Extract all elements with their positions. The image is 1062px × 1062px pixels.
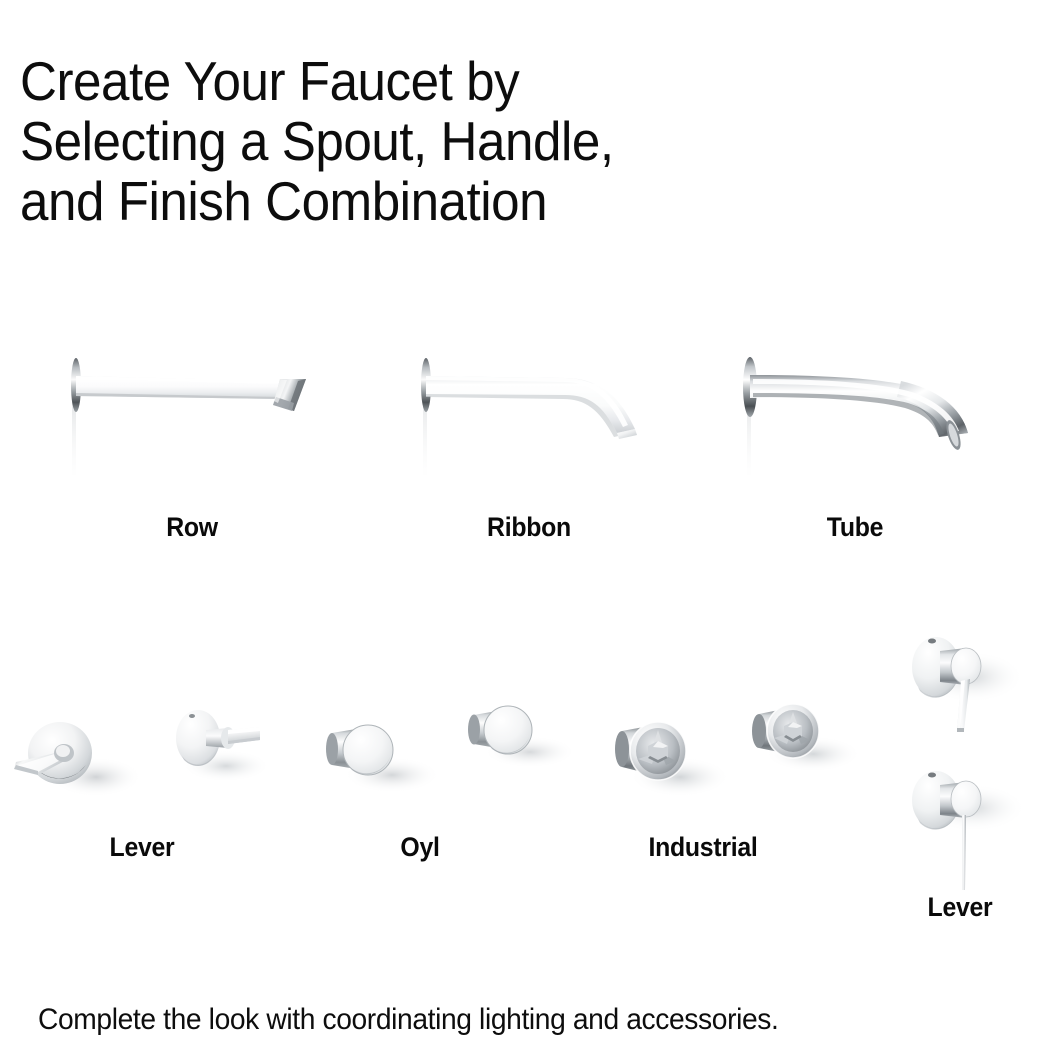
footer-caption: Complete the look with coordinating ligh… — [38, 1002, 778, 1038]
handle-lever-mixer-image-1[interactable] — [900, 625, 1040, 775]
handle-oyl-image-1[interactable] — [320, 705, 450, 815]
handle-industrial-image-1[interactable] — [608, 705, 738, 815]
spout-row-image[interactable] — [40, 345, 340, 475]
spout-ribbon-image[interactable] — [395, 345, 695, 475]
handle-lever-label: Lever — [68, 832, 215, 862]
handle-lever-image-2[interactable] — [170, 700, 300, 800]
product-configurator-page: Create Your Faucet by Selecting a Spout,… — [0, 0, 1062, 1062]
spout-tube-image[interactable] — [725, 345, 995, 475]
handle-oyl-label: Oyl — [346, 832, 493, 862]
spout-row-label: Row — [118, 512, 265, 542]
handle-oyl-image-2[interactable] — [462, 690, 592, 800]
handle-lever-mixer-image-2[interactable] — [900, 760, 1040, 900]
page-title: Create Your Faucet by Selecting a Spout,… — [20, 51, 783, 231]
handle-industrial-image-2[interactable] — [745, 690, 875, 800]
handle-industrial-label: Industrial — [620, 832, 786, 862]
spout-ribbon-label: Ribbon — [455, 512, 602, 542]
handle-lever-mixer-label: Lever — [886, 892, 1033, 922]
spout-tube-label: Tube — [781, 512, 928, 542]
handle-lever-image-1[interactable] — [0, 705, 140, 815]
